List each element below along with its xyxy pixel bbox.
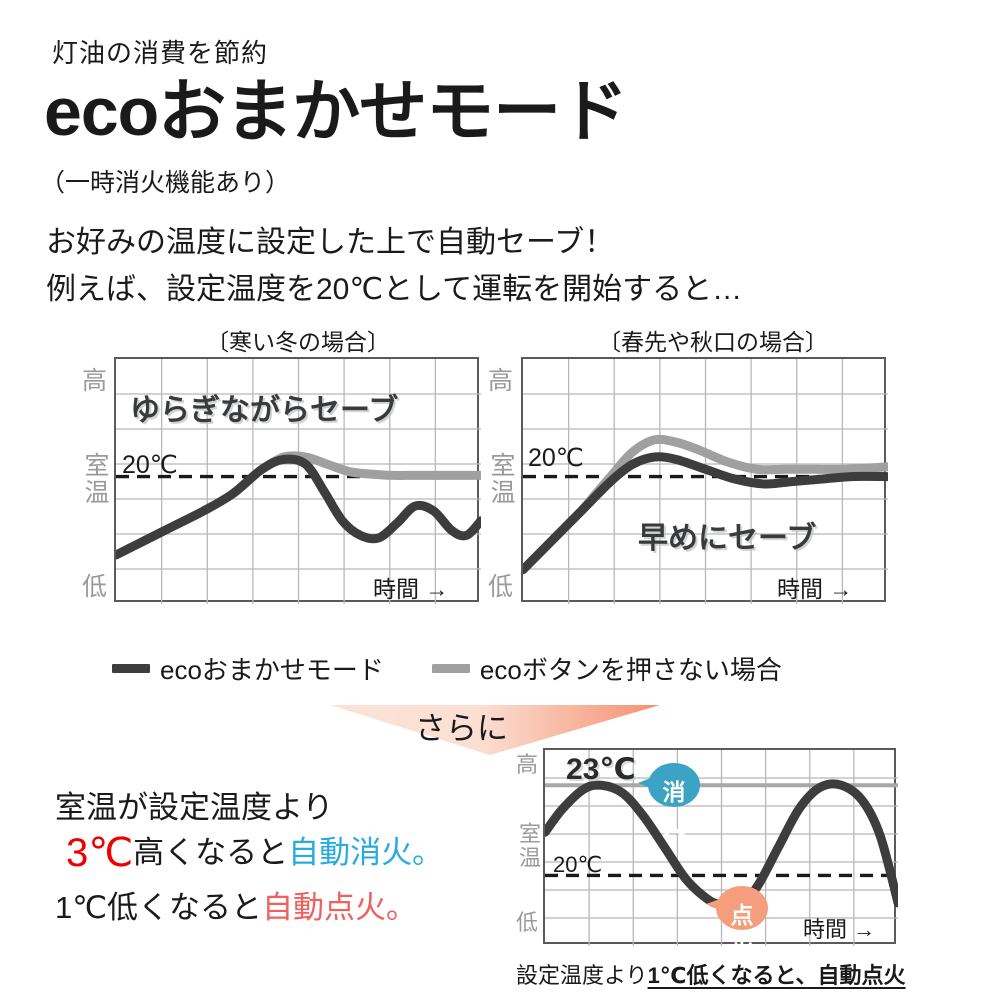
x-axis-label-bottom: 時間 → [803, 912, 875, 944]
bubble-off-wrap: 消火 [636, 761, 702, 809]
bubble-off-label: 消火 [652, 773, 696, 841]
x-axis-label-text-right: 時間 [777, 576, 823, 602]
axis-label-high-bottom: 高 [516, 752, 538, 777]
chart-plot-mild-season [521, 357, 886, 602]
setpoint-label-right: 20℃ [528, 443, 584, 473]
axis-label-low-bottom: 低 [516, 910, 538, 935]
chart-annotation-cold-winter: ゆらぎながらセーブ [130, 385, 398, 429]
x-axis-arrow-bottom: → [853, 917, 875, 942]
axis-label-roomtemp-bottom: 室温 [516, 822, 541, 870]
temp-delta-up: 3℃ [66, 831, 133, 875]
auto-off-accent: 自動消火。 [288, 835, 443, 870]
axis-label-high-left: 高 [82, 369, 107, 394]
legend-swatch-eco [112, 664, 150, 673]
axis-label-low-right: 低 [488, 575, 513, 600]
setpoint-label-bottom: 20℃ [553, 852, 602, 878]
x-axis-arrow-left: → [425, 576, 448, 602]
bottom-copy-line-2-mid: 高くなると [133, 835, 288, 870]
x-axis-label-right: 時間 → [777, 570, 852, 604]
bottom-caption-emphasis: 1℃低くなると、自動点火 [648, 963, 906, 988]
bubble-on-label: 点火 [720, 896, 764, 964]
chart-title-mild-season: 〔春先や秋口の場合〕 [528, 323, 898, 357]
page-title: ecoおまかせモード [44, 78, 627, 146]
axis-label-roomtemp-right: 室温 [488, 452, 513, 506]
bottom-caption: 設定温度より1℃低くなると、自動点火 [516, 958, 906, 990]
legend-swatch-no-eco [432, 664, 470, 673]
transition-label: さらに [415, 703, 508, 748]
chart-annotation-mild-season: 早めにセーブ [638, 513, 816, 557]
kicker-text: 灯油の消費を節約 [52, 33, 268, 70]
x-axis-label-left: 時間 → [373, 570, 448, 604]
chart-legend: ecoおまかせモード ecoボタンを押さない場合 [112, 650, 912, 687]
page-subtitle: （一時消火機能あり） [40, 163, 290, 199]
x-axis-label-text-bottom: 時間 [803, 917, 847, 942]
bottom-copy-line-2: 3℃高くなると自動消火。 [66, 827, 443, 876]
bottom-copy-line-3: 1℃低くなると自動点火。 [55, 882, 417, 927]
bottom-caption-plain: 設定温度より [516, 963, 648, 988]
bottom-copy-line-3-pre: 1℃低くなると [55, 890, 262, 925]
legend-label-no-eco: ecoボタンを押さない場合 [480, 650, 782, 687]
setpoint-label-left: 20℃ [122, 450, 178, 480]
legend-item-no-eco: ecoボタンを押さない場合 [432, 650, 782, 687]
bottom-copy-line-1: 室温が設定温度より [55, 782, 333, 827]
axis-label-low-left: 低 [82, 575, 107, 600]
axis-label-high-right: 高 [488, 369, 513, 394]
chart-title-cold-winter: 〔寒い冬の場合〕 [118, 323, 478, 357]
bubble-on-wrap: 点火 [704, 884, 770, 932]
lead-line-2: 例えば、設定温度を20℃として運転を開始すると… [46, 264, 742, 308]
upper-temp-label: 23℃ [566, 752, 636, 787]
x-axis-label-text-left: 時間 [373, 576, 419, 602]
legend-label-eco: ecoおまかせモード [160, 650, 384, 687]
auto-on-accent: 自動点火。 [262, 890, 417, 925]
lead-line-1: お好みの温度に設定した上で自動セーブ！ [46, 217, 614, 261]
legend-item-eco: ecoおまかせモード [112, 650, 384, 687]
axis-label-roomtemp-left: 室温 [82, 452, 107, 506]
x-axis-arrow-right: → [829, 576, 852, 602]
